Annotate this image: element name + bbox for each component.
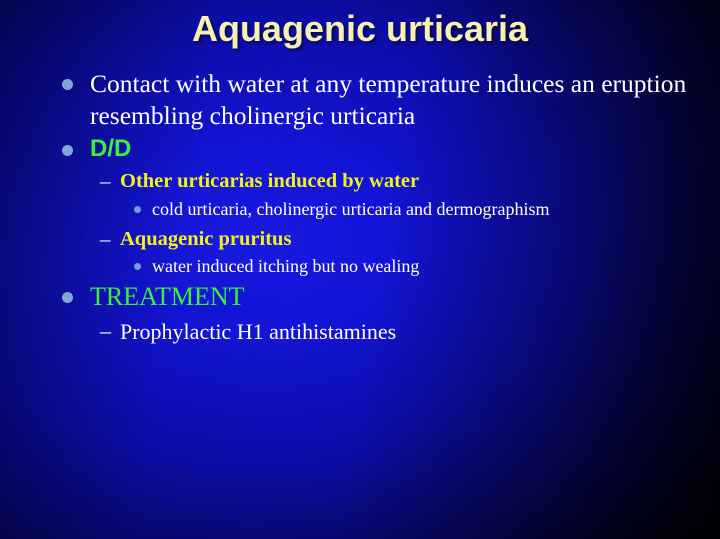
slide-content: Aquagenic urticaria Contact with water a…: [0, 0, 720, 346]
bullet-item-level1: Contact with water at any temperature in…: [0, 68, 720, 132]
disc-bullet-icon: [62, 145, 73, 156]
bullet-item-level3: water induced itching but no wealing: [0, 255, 720, 278]
bullet-item-level2-treatment: – Prophylactic H1 antihistamines: [0, 318, 720, 346]
dash-bullet-icon: –: [100, 227, 111, 252]
bullet-item-level2: – Other urticarias induced by water: [0, 169, 720, 195]
slide-title: Aquagenic urticaria: [0, 0, 720, 50]
small-disc-bullet-icon: [134, 263, 141, 270]
slide-canvas: Aquagenic urticaria Contact with water a…: [0, 0, 720, 539]
bullet-text: Prophylactic H1 antihistamines: [120, 318, 396, 346]
disc-bullet-icon: [62, 79, 73, 90]
bullet-text: Aquagenic pruritus: [120, 227, 291, 253]
bullet-text: D/D: [90, 134, 131, 164]
disc-bullet-icon: [62, 292, 73, 303]
dash-bullet-icon: –: [100, 169, 111, 194]
bullet-item-level2: – Aquagenic pruritus: [0, 227, 720, 253]
dash-bullet-icon: –: [100, 318, 111, 344]
bullet-text: water induced itching but no wealing: [152, 255, 419, 278]
bullet-item-level1-treatment: TREATMENT: [0, 281, 720, 314]
slide-body: Contact with water at any temperature in…: [0, 50, 720, 346]
small-disc-bullet-icon: [134, 206, 141, 213]
bullet-text: Other urticarias induced by water: [120, 169, 419, 195]
bullet-text: TREATMENT: [90, 281, 245, 314]
bullet-text: cold urticaria, cholinergic urticaria an…: [152, 198, 550, 221]
bullet-text: Contact with water at any temperature in…: [90, 68, 692, 132]
bullet-item-level3: cold urticaria, cholinergic urticaria an…: [0, 198, 720, 221]
bullet-item-level1-dd: D/D: [0, 134, 720, 164]
